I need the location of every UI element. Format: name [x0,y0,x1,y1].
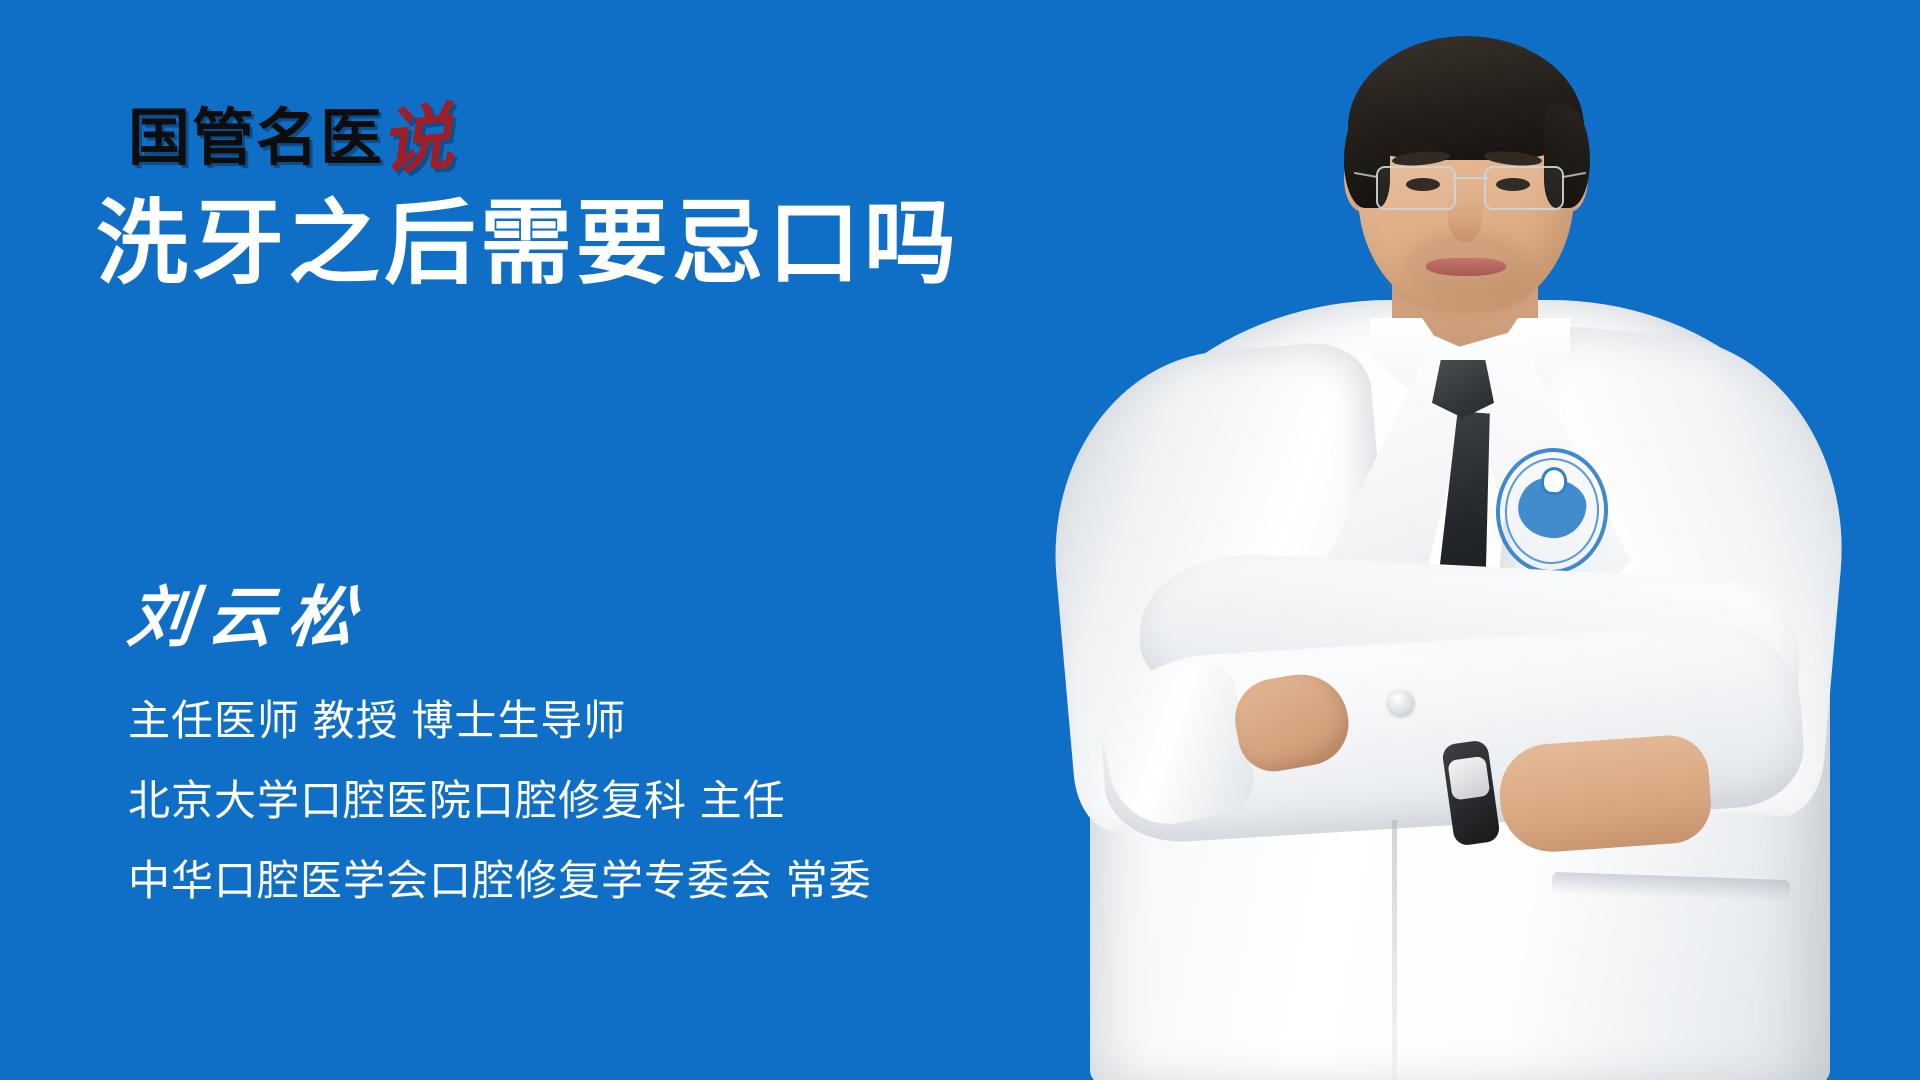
wristwatch-face [1447,756,1490,801]
eyeglasses-icon [1376,166,1564,208]
doctor-name: 刘云松 [125,586,372,652]
brand-logo-main-text: 国管名医 [128,108,384,170]
chest-emblem-icon [1492,444,1613,578]
credential-line: 主任医师 教授 博士生导师 [128,700,872,742]
forearm [1496,733,1713,855]
lab-coat-button [1388,690,1414,716]
credential-line: 北京大学口腔医院口腔修复科 主任 [128,780,872,822]
emblem-tooth-icon [1543,469,1564,492]
doctor-portrait-photo: 中国医药信息平台 [940,0,1920,1080]
eyeglass-lens-right [1484,166,1564,210]
doctor-credentials: 主任医师 教授 博士生导师 北京大学口腔医院口腔修复科 主任 中华口腔医学会口腔… [128,700,872,902]
credential-line: 中华口腔医学会口腔修复学专委会 常委 [128,860,872,902]
brand-logo-accent-text: 说 [377,104,456,177]
video-cover-slide: 国管名医 说 洗牙之后需要忌口吗 刘云松 主任医师 教授 博士生导师 北京大学口… [0,0,1920,1080]
brand-logo: 国管名医 说 [128,92,452,170]
mouth [1426,258,1506,276]
lab-coat-seam [1392,820,1397,1080]
page-title: 洗牙之后需要忌口吗 [96,196,960,293]
eyeglass-bridge [1452,177,1488,179]
eyeglass-lens-left [1376,166,1456,210]
